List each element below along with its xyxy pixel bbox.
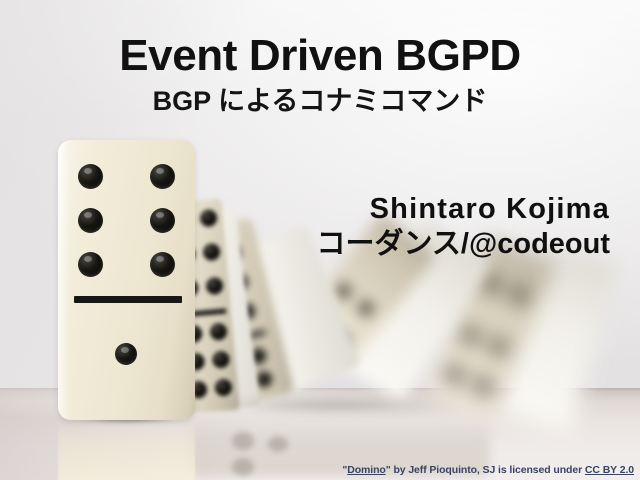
slide-title: Event Driven BGPD (0, 34, 640, 78)
author-block: Shintaro Kojima コーダンス/@codeout (316, 192, 610, 263)
attribution-license-link[interactable]: CC BY 2.0 (585, 464, 634, 476)
author-handle: コーダンス/@codeout (316, 227, 610, 262)
attribution-byline: by Jeff Pioquinto, SJ is licensed under (391, 464, 585, 476)
presentation-title-slide: Event Driven BGPD BGP によるコナミコマンド Shintar… (0, 0, 640, 480)
slide-text-layer: Event Driven BGPD BGP によるコナミコマンド Shintar… (0, 0, 640, 480)
photo-attribution: "Domino" by Jeff Pioquinto, SJ is licens… (342, 464, 634, 476)
author-name: Shintaro Kojima (316, 192, 610, 227)
slide-subtitle: BGP によるコナミコマンド (0, 88, 640, 115)
attribution-work-link[interactable]: Domino (347, 464, 385, 476)
